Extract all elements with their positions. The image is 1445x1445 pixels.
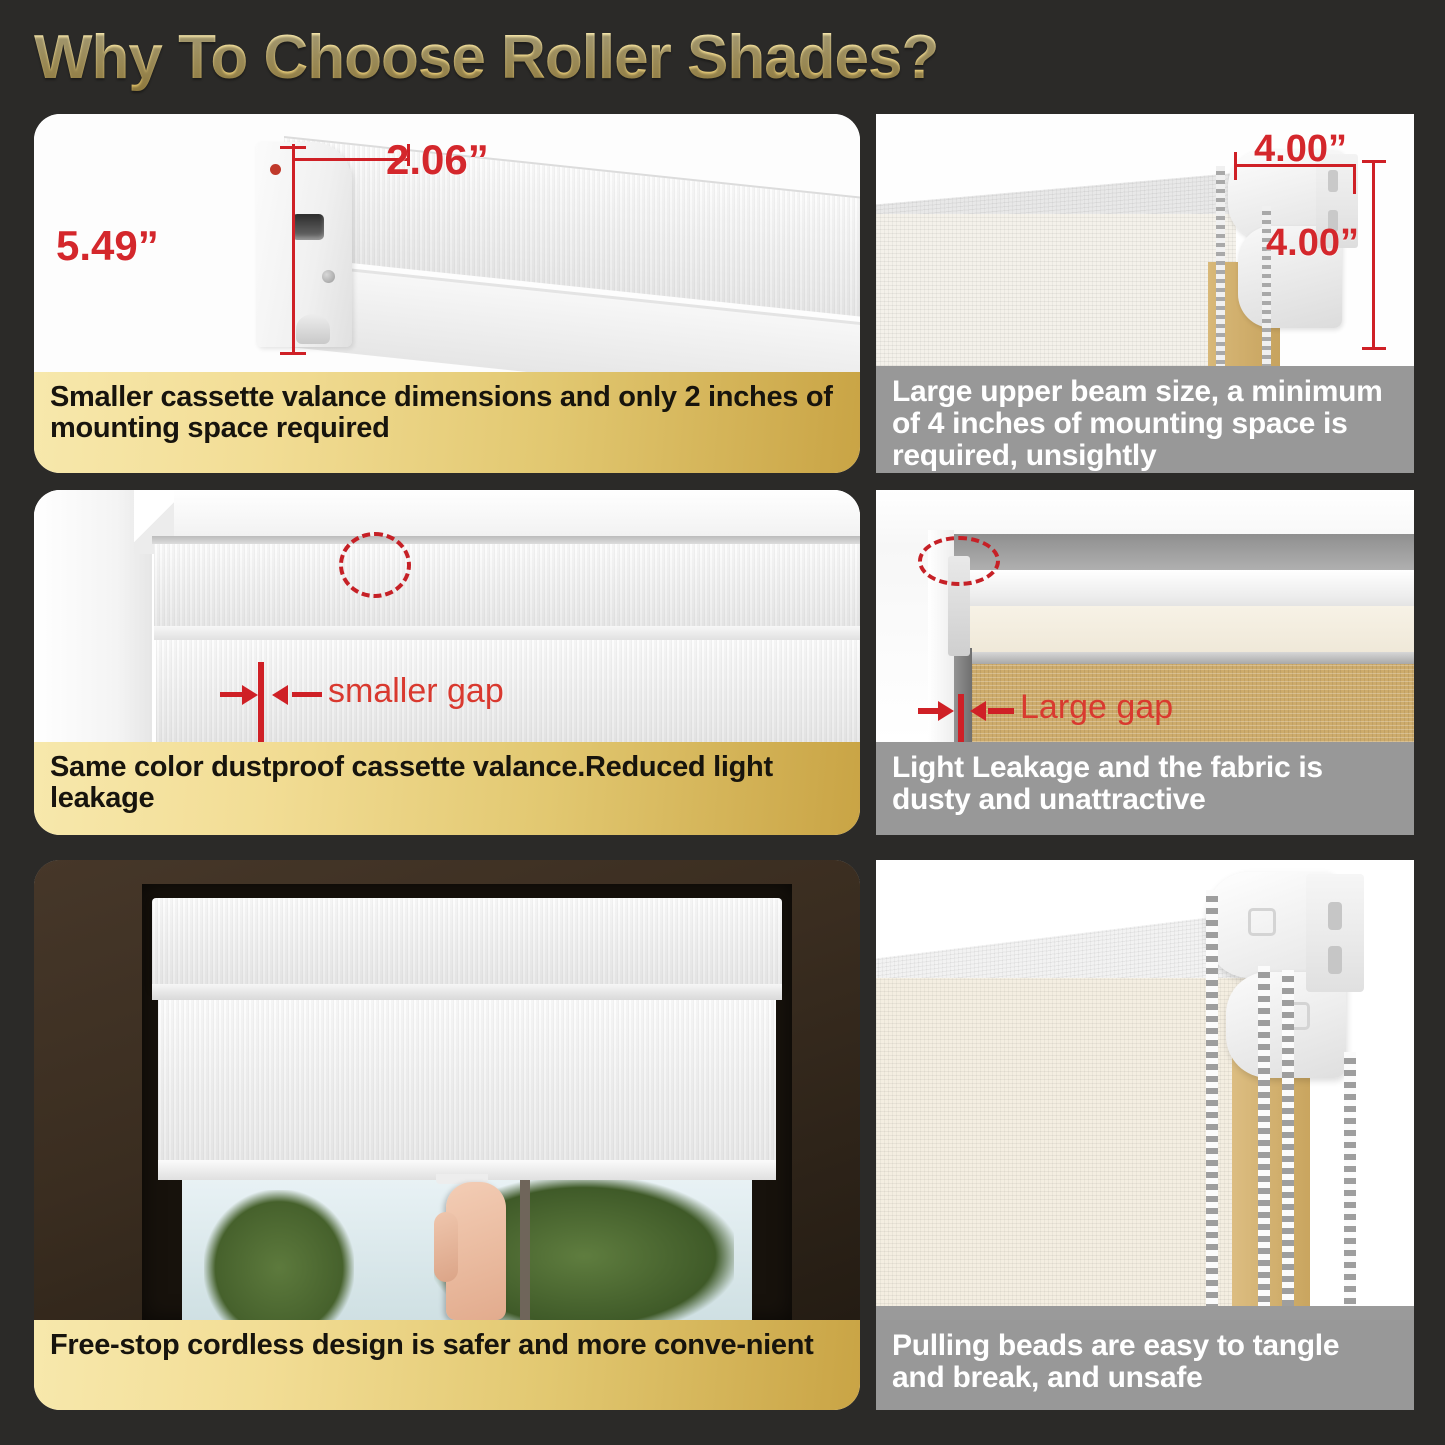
tree-foliage-left-icon [204,1190,354,1320]
width-dimension-label: 2.06” [386,136,489,184]
large-gap-arrow-right [988,708,1014,714]
end-cap-slot-icon [292,214,324,240]
beam-height-label: 4.00” [1266,222,1359,265]
panel-free-stop-cordless: Free-stop cordless design is safer and m… [34,860,860,1410]
cassette-valance-face [154,544,860,630]
height-dim-tick-top [280,146,306,149]
large-gap-arrow-left-head-icon [938,701,954,721]
panel-4-photo: Large gap [876,490,1414,742]
height-dim-tick-bottom [280,352,306,355]
panel-1-caption-text: Smaller cassette valance dimensions and … [50,382,844,444]
beam-width-tick-left [1234,152,1237,180]
bead-chain-4 [1344,1052,1356,1320]
end-cap-roller-icon [296,314,330,344]
height-dimension-label: 5.49” [56,222,159,270]
page-title: Why To Choose Roller Shades? [34,18,1414,96]
cassette-top-rail [152,536,860,544]
panel-cassette-valance-dimensions: 2.06” 5.49” Smaller cassette valance dim… [34,114,860,473]
large-gap-marker-bar [958,694,964,742]
panel-3-photo: smaller gap [34,490,860,742]
panel-light-leakage: Large gap Light Leakage and the fabric i… [876,490,1414,835]
beam-width-tick-right [1353,166,1356,194]
panel-4-caption: Light Leakage and the fabric is dusty an… [876,742,1414,835]
panel-6-caption-text: Pulling beads are easy to tangle and bre… [892,1330,1398,1394]
bead-chain-1 [1206,890,1218,1320]
valance-bottom-edge [154,626,860,640]
end-cap-screw-top-icon [270,164,281,175]
panel-6-photo [876,860,1414,1320]
beam-height-tick-top [1362,160,1386,163]
shade-fabric-cream-band [958,606,1414,654]
large-gap-label: Large gap [1020,688,1173,727]
panel-5-caption-text: Free-stop cordless design is safer and m… [50,1330,814,1361]
panel-2-caption: Large upper beam size, a minimum of 4 in… [876,366,1414,473]
bead-chain-2 [1258,966,1270,1320]
panel-dustproof-cassette-valance: smaller gap Same color dustproof cassett… [34,490,860,835]
cassette-head-rail [152,898,782,988]
bracket-plate-slot-icon [1328,902,1342,930]
beam-width-label: 4.00” [1254,128,1347,171]
panel-5-caption: Free-stop cordless design is safer and m… [34,1320,860,1410]
height-dimension-line [292,146,295,354]
panel-6-caption: Pulling beads are easy to tangle and bre… [876,1320,1414,1410]
photo-bottom-shadow [876,1306,1414,1320]
large-gap-arrow-right-head-icon [970,701,986,721]
window-mullion [520,1170,530,1320]
panel-4-caption-text: Light Leakage and the fabric is dusty an… [892,752,1398,816]
window-casing-top [144,490,860,536]
panel-3-caption: Same color dustproof cassette valance.Re… [34,742,860,835]
bottom-rail-metal [958,652,1414,664]
bracket-highlight-ring [918,536,1000,586]
page-title-text: Why To Choose Roller Shades? [34,22,938,93]
panel-large-upper-beam: 4.00” 4.00” Large upper beam size, a min… [876,114,1414,473]
head-rail-lip [152,984,782,1000]
beam-height-tick-bottom [1362,347,1386,350]
panel-2-caption-text: Large upper beam size, a minimum of 4 in… [892,376,1398,472]
tight-seal-highlight-ring [339,532,411,598]
gap-arrow-left-head-icon [242,685,258,705]
bracket-wall-plate [1306,874,1364,992]
bead-chain-left [1216,166,1225,366]
shade-fabric-sheer [876,214,1236,366]
panel-3-caption-text: Same color dustproof cassette valance.Re… [50,752,844,814]
bead-chain-3 [1282,970,1294,1320]
bracket-arrow-emblem-upper-icon [1248,908,1276,936]
hand-thumb [434,1212,458,1282]
gap-arrow-right [292,692,322,697]
infographic-root: Why To Choose Roller Shades? 2.06” 5.49” [0,0,1445,1445]
roller-shade-fabric [158,1000,776,1178]
panel-pulling-beads: Pulling beads are easy to tangle and bre… [876,860,1414,1410]
gap-marker-bar [258,662,264,742]
panel-1-caption: Smaller cassette valance dimensions and … [34,372,860,473]
panel-5-photo [34,860,860,1320]
bracket-plate-slot-2-icon [1328,946,1342,974]
panel-2-photo: 4.00” 4.00” [876,114,1414,366]
smaller-gap-label: smaller gap [328,672,504,711]
bracket-slot-icon [1328,170,1338,192]
gap-arrow-right-head-icon [272,685,288,705]
panel-1-photo: 2.06” 5.49” [34,114,860,372]
end-cap-screw-mid-icon [322,270,335,283]
beam-height-dim-line [1372,160,1375,350]
